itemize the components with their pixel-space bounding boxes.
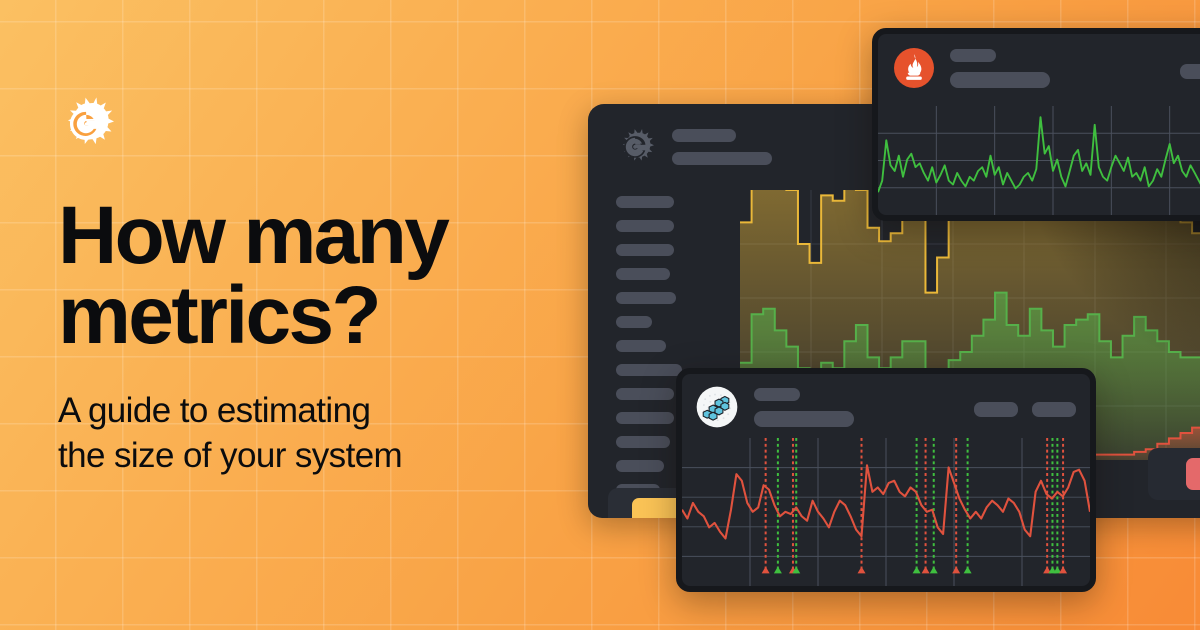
graphite-action-button[interactable] [1032, 402, 1076, 417]
sidebar-item[interactable] [616, 316, 652, 328]
graphite-action-button[interactable] [974, 402, 1018, 417]
prometheus-series-line [878, 117, 1200, 192]
placeholder-bar [754, 388, 800, 401]
sidebar-item[interactable] [616, 292, 676, 304]
prometheus-action-button[interactable] [1180, 64, 1200, 79]
annotation-marker[interactable] [930, 567, 938, 574]
prometheus-line-chart[interactable] [878, 106, 1200, 215]
graphite-line-chart[interactable] [682, 438, 1090, 586]
dashboard-header [616, 128, 772, 166]
page-subtitle: A guide to estimating the size of your s… [58, 389, 578, 479]
sidebar-item[interactable] [616, 220, 674, 232]
hero-text-column: How many metrics? A guide to estimating … [58, 96, 578, 479]
prometheus-title-placeholders [950, 49, 1050, 88]
grafana-logo-icon [616, 128, 654, 166]
sidebar-item[interactable] [616, 268, 670, 280]
prometheus-panel[interactable] [872, 28, 1200, 221]
annotation-marker[interactable] [1059, 567, 1067, 574]
prometheus-header [894, 48, 1050, 88]
annotation-marker[interactable] [922, 567, 930, 574]
prometheus-logo-icon [894, 48, 934, 88]
sidebar-item[interactable] [616, 364, 682, 376]
placeholder-bar [672, 152, 772, 165]
graphite-panel[interactable] [676, 368, 1096, 592]
sidebar-item[interactable] [616, 196, 674, 208]
placeholder-bar [672, 129, 736, 142]
placeholder-bar [950, 49, 996, 62]
placeholder-bar [950, 72, 1050, 88]
sidebar-item[interactable] [616, 436, 670, 448]
grafana-logo-icon [58, 96, 114, 152]
annotation-marker[interactable] [858, 567, 866, 574]
dashboard-sidebar[interactable] [616, 196, 682, 518]
sidebar-item[interactable] [616, 340, 666, 352]
dashboard-title-placeholders [672, 129, 772, 165]
annotation-marker[interactable] [964, 567, 972, 574]
sidebar-item[interactable] [616, 244, 674, 256]
footer-danger-button[interactable] [1186, 458, 1200, 490]
sidebar-item[interactable] [616, 460, 664, 472]
placeholder-bar [754, 411, 854, 427]
graphite-header [696, 386, 854, 428]
annotation-marker[interactable] [952, 567, 960, 574]
sidebar-item[interactable] [616, 388, 674, 400]
annotation-marker[interactable] [913, 567, 921, 574]
graphite-logo-icon [696, 386, 738, 428]
annotation-marker[interactable] [762, 567, 770, 574]
graphite-title-placeholders [754, 388, 854, 427]
graphite-header-actions[interactable] [974, 402, 1076, 417]
sidebar-item[interactable] [616, 412, 674, 424]
annotation-marker[interactable] [774, 567, 782, 574]
page-title: How many metrics? [58, 196, 578, 355]
